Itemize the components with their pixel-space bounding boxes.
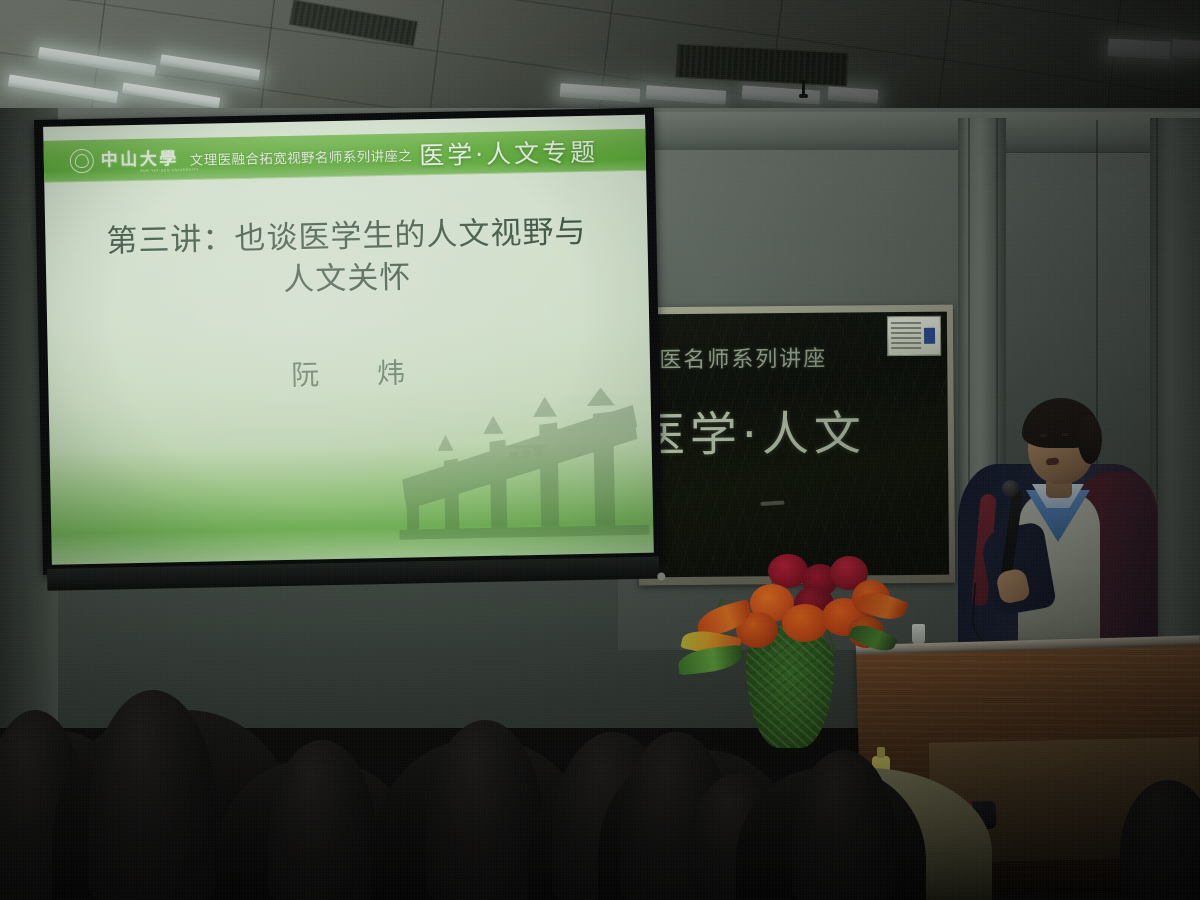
audience-shoulders <box>0 730 150 900</box>
university-seal-icon <box>70 149 94 173</box>
ceiling-shading <box>0 0 1200 118</box>
speaker-eye <box>1062 433 1069 436</box>
lecture-topic-text: 医学·人文专题 <box>419 133 599 173</box>
cup <box>912 624 925 644</box>
lecture-series-text: 文理医融合拓宽视野名师系列讲座之 <box>190 144 413 168</box>
speaker-hair-side <box>1078 414 1102 464</box>
flower-arrangement <box>672 540 908 760</box>
slide-title-line1: 第三讲：也谈医学生的人文视野与 <box>106 214 587 260</box>
audience-head <box>426 720 544 900</box>
slide-header-banner: 中山大學 SUN YAT-SEN UNIVERSITY 文理医融合拓宽视野名师系… <box>43 129 646 183</box>
audience-shoulders <box>528 754 738 900</box>
university-name-cn: 中山大學 <box>101 151 179 170</box>
audience-shoulders <box>52 710 302 900</box>
campus-gate-watermark-icon <box>397 387 650 540</box>
lecture-hall-photo: 理医名师系列讲座 医学·人文 中山大學 SUN YAT-SEN UNIVERSI… <box>0 0 1200 900</box>
wall-upper-beam <box>618 112 1200 153</box>
slide-title-line2: 人文关怀 <box>46 253 649 307</box>
audience-head <box>0 710 88 900</box>
university-name-en: SUN YAT-SEN UNIVERSITY <box>140 168 199 173</box>
audience-head <box>268 740 376 900</box>
speaker-eye <box>1040 434 1047 437</box>
slide-title: 第三讲：也谈医学生的人文视野与 人文关怀 <box>45 211 649 307</box>
water-bottle <box>224 816 246 886</box>
orange-rose <box>782 604 828 642</box>
ceiling <box>0 0 1200 118</box>
blackboard-text-line2: 医学·人文 <box>643 394 866 465</box>
desk-row <box>196 821 756 841</box>
blackboard-surface: 理医名师系列讲座 医学·人文 <box>643 312 949 578</box>
projection-screen: 中山大學 SUN YAT-SEN UNIVERSITY 文理医融合拓宽视野名师系… <box>34 108 663 595</box>
audience-shoulders <box>216 760 416 900</box>
blackboard-text-line1: 理医名师系列讲座 <box>643 341 828 375</box>
audience-shoulders <box>372 740 592 900</box>
audience-head <box>688 774 786 900</box>
audience-head <box>552 732 674 900</box>
audience-shoulders <box>598 750 798 900</box>
paper-on-desk <box>228 798 282 824</box>
speaker-figure <box>952 398 1162 660</box>
speaker-given-name: 炜 <box>377 357 408 391</box>
notice-poster-icon <box>887 316 941 356</box>
presentation-slide: 中山大學 SUN YAT-SEN UNIVERSITY 文理医融合拓宽视野名师系… <box>43 115 654 565</box>
speaker-surname: 阮 <box>291 358 322 392</box>
